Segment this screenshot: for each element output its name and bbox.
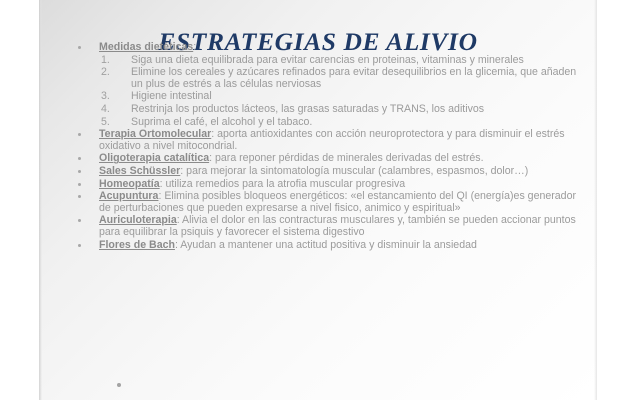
- list-item-number: 4.: [101, 104, 119, 116]
- bullet-body-text: Ayudan a mantener una actitud positiva y…: [178, 239, 477, 251]
- list-item: 5. Suprima el café, el alcohol y el taba…: [69, 117, 589, 129]
- list-item: 1. Siga una dieta equilibrada para evita…: [69, 55, 589, 67]
- bullet-item-terapia-ortomolecular: Terapia Ortomolecular: aporta antioxidan…: [69, 129, 589, 152]
- bullet-lead-label: Terapia Ortomolecular: [99, 128, 211, 140]
- bullet-item-homeopatia: Homeopatía: utiliza remedios para la atr…: [69, 179, 589, 191]
- list-item-text: Siga una dieta equilibrada para evitar c…: [131, 55, 589, 67]
- slide-left-edge: [39, 0, 42, 400]
- bullet-item-oligoterapia-catalitica: Oligoterapia catalítica: para reponer pé…: [69, 153, 589, 165]
- bullet-lead-label: Oligoterapia catalítica: [99, 152, 209, 164]
- numbered-sublist: 1. Siga una dieta equilibrada para evita…: [69, 55, 589, 129]
- list-item-number: 3.: [101, 91, 119, 103]
- bullet-item-sales-schussler: Sales Schüssler: para mejorar la sintoma…: [69, 166, 589, 178]
- bullet-lead-label: Acupuntura: [99, 190, 158, 202]
- slide-body-content: Medidas dietéticas: 1. Siga una dieta eq…: [69, 42, 589, 252]
- bullet-dot-icon: [78, 244, 81, 247]
- bullet-body-text: para mejorar la sintomatología muscular …: [183, 165, 528, 177]
- bullet-lead-label: Homeopatía: [99, 178, 160, 190]
- list-item-number: 1.: [101, 55, 119, 67]
- bullet-dot-icon: [78, 157, 81, 160]
- bullet-lead-label: Sales Schüssler: [99, 165, 180, 177]
- bullet-dot-icon: [78, 219, 81, 222]
- list-item-text: Elimine los cereales y azúcares refinado…: [131, 67, 589, 90]
- bullet-body-text: Elimina posibles bloqueos energéticos: «…: [99, 190, 576, 214]
- bullet-item-medidas-dieteticas: Medidas dietéticas:: [69, 42, 589, 54]
- bullet-dot-icon: [78, 133, 81, 136]
- bullet-item-auriculoterapia: Auriculoterapia: Alivia el dolor en las …: [69, 215, 589, 238]
- bullet-body-text: utiliza remedios para la atrofia muscula…: [163, 178, 406, 190]
- list-item: 3. Higiene intestinal: [69, 91, 589, 103]
- bullet-item-acupuntura: Acupuntura: Elimina posibles bloqueos en…: [69, 191, 589, 214]
- list-item: 4. Restrinja los productos lácteos, las …: [69, 104, 589, 116]
- bullet-body-text: para reponer pérdidas de minerales deriv…: [212, 152, 483, 164]
- bullet-dot-icon: [78, 46, 81, 49]
- bullet-dot-icon: [78, 170, 81, 173]
- bullet-item-flores-de-bach: Flores de Bach: Ayudan a mantener una ac…: [69, 240, 589, 252]
- list-item-number: 5.: [101, 117, 119, 129]
- list-item-text: Suprima el café, el alcohol y el tabaco.: [131, 117, 589, 129]
- slide-canvas: ESTRATEGIAS DE ALIVIO Medidas dietéticas…: [0, 0, 640, 400]
- bullet-lead-label: Flores de Bach: [99, 239, 175, 251]
- slide-right-edge: [594, 0, 597, 400]
- list-item-text: Restrinja los productos lácteos, las gra…: [131, 104, 589, 116]
- bullet-dot-icon: [78, 195, 81, 198]
- empty-bullet-dot-icon: [117, 383, 121, 387]
- list-item: 2. Elimine los cereales y azúcares refin…: [69, 67, 589, 90]
- bullet-dot-icon: [78, 183, 81, 186]
- bullet-lead-label: Medidas dietéticas: [99, 41, 193, 53]
- list-item-number: 2.: [101, 67, 119, 79]
- list-item-text: Higiene intestinal: [131, 91, 589, 103]
- bullet-separator: :: [193, 41, 196, 53]
- bullet-lead-label: Auriculoterapia: [99, 214, 177, 226]
- slide-surface: ESTRATEGIAS DE ALIVIO Medidas dietéticas…: [39, 0, 597, 400]
